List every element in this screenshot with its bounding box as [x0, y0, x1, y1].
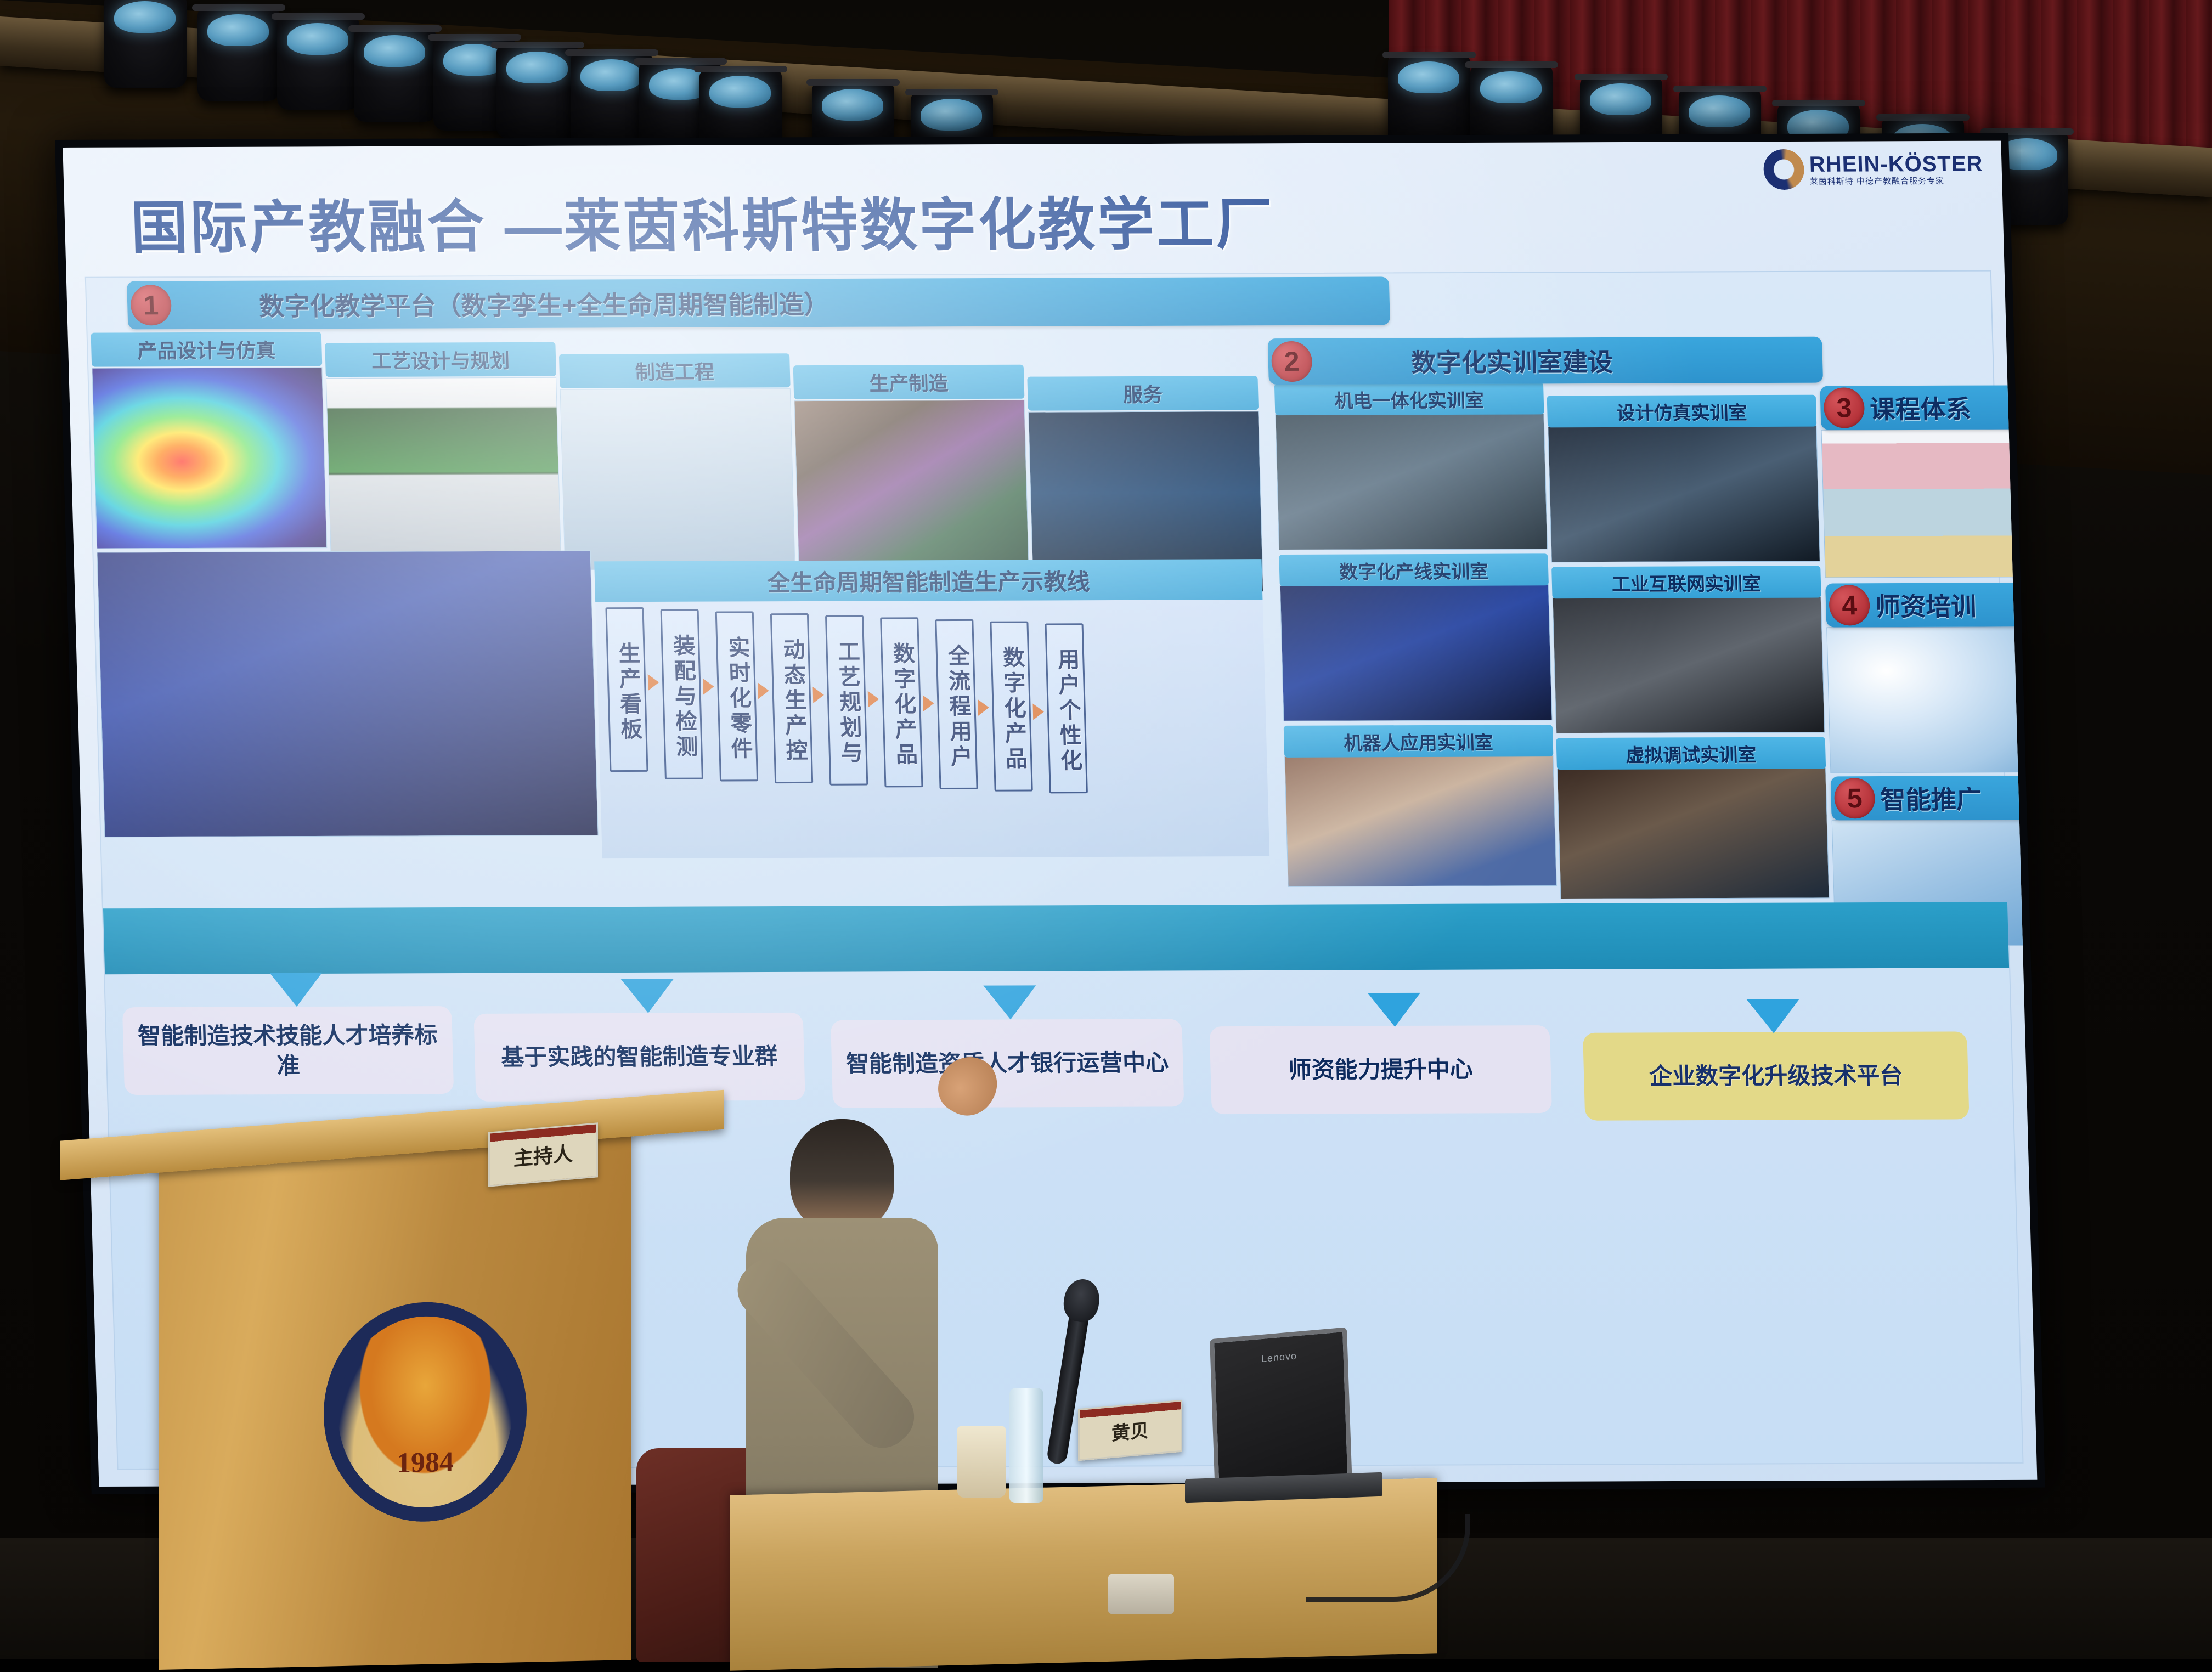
line-step-5: 工艺规划与 — [825, 615, 868, 786]
line-step-3: 实时化零件 — [715, 611, 758, 781]
tile-course-system — [1821, 429, 2033, 578]
production-line-title: 全生命周期智能制造生产示教线 — [594, 559, 1262, 602]
stage-light — [277, 16, 359, 110]
step-arrow-icon — [648, 674, 659, 691]
section-title-2: 数字化实训室建设 — [1410, 342, 1613, 379]
stage-caption-service: 服务 — [1027, 376, 1259, 410]
tile-lab-design-sim — [1548, 426, 1820, 563]
section-badge-5: 5 — [1834, 778, 1876, 818]
water-bottle — [1009, 1388, 1043, 1503]
stage-caption-product-design: 产品设计与仿真 — [91, 332, 323, 366]
lab-caption-mechatronics: 机电一体化实训室 — [1274, 382, 1544, 415]
logo-subtitle: 莱茵科斯特 中德产教融合服务专家 — [1810, 177, 1984, 185]
outcome-box-talent-standard: 智能制造技术技能人才培养标准 — [122, 1006, 454, 1095]
person-head — [790, 1119, 894, 1232]
stage-caption-production: 生产制造 — [793, 365, 1025, 399]
emblem-year: 1984 — [397, 1446, 454, 1479]
tile-lab-mechatronics — [1275, 413, 1548, 550]
section-header-1: 1 数字化教学平台（数字孪生+全生命周期智能制造） — [127, 276, 1390, 329]
lab-caption-industrial-iot: 工业互联网实训室 — [1551, 566, 1821, 599]
paper-cup — [957, 1426, 1006, 1498]
section-header-2: 2 数字化实训室建设 — [1268, 337, 1824, 385]
section-header-5: 5 智能推广 — [1831, 776, 2038, 820]
section-header-3: 3 课程体系 — [1820, 385, 2029, 430]
tile-process-planning — [326, 377, 561, 559]
tile-lab-robotics — [1284, 755, 1557, 887]
line-step-8: 数字化产品 — [990, 622, 1032, 792]
stage-light — [496, 45, 579, 138]
down-arrow-icon — [621, 979, 675, 1013]
tile-lab-virtual-commissioning — [1557, 767, 1830, 899]
floor-outlet — [1108, 1574, 1174, 1614]
tile-manufacturing-eng — [560, 388, 795, 570]
step-arrow-icon — [758, 682, 769, 699]
outcome-box-practice-majors: 基于实践的智能制造专业群 — [473, 1013, 805, 1102]
line-step-2: 装配与检测 — [661, 609, 703, 779]
tile-smart-warehouse — [97, 550, 598, 837]
step-arrow-icon — [1032, 703, 1044, 720]
down-arrow-icon — [983, 985, 1037, 1019]
line-step-4: 动态生产控 — [770, 613, 813, 783]
laptop[interactable]: Lenovo — [1210, 1327, 1352, 1498]
section-badge-4: 4 — [1829, 585, 1870, 625]
university-emblem: 1984 — [324, 1300, 527, 1524]
step-arrow-icon — [812, 687, 824, 703]
line-step-7: 全流程用户 — [935, 619, 978, 789]
tile-lab-digital-line — [1280, 584, 1553, 721]
line-step-9: 用户个性化 — [1045, 623, 1088, 793]
stage-light — [104, 0, 187, 88]
laptop-brand-label: Lenovo — [1261, 1350, 1297, 1365]
section-title-4: 师资培训 — [1875, 587, 1977, 624]
auditorium-stage: 国际产教融合 —莱茵科斯特数字化教学工厂 RHEIN-KÖSTER 莱茵科斯特 … — [0, 0, 2212, 1659]
step-arrow-icon — [978, 699, 989, 716]
rhein-koster-mark-icon — [1763, 149, 1804, 190]
stage-light — [354, 29, 436, 122]
section-title-3: 课程体系 — [1870, 389, 1972, 426]
divider-band — [103, 902, 2009, 974]
lab-caption-digital-line: 数字化产线实训室 — [1279, 553, 1549, 586]
stage-caption-process-planning: 工艺设计与规划 — [325, 342, 556, 377]
podium-nameplate: 主持人 — [488, 1122, 598, 1187]
step-arrow-icon — [868, 691, 879, 707]
section-badge-2: 2 — [1271, 341, 1313, 382]
stage-light — [198, 8, 280, 101]
step-arrow-icon — [703, 679, 714, 695]
rhein-koster-logo: RHEIN-KÖSTER 莱茵科斯特 中德产教融合服务专家 — [1763, 149, 1984, 190]
stage-light — [1388, 55, 1470, 148]
line-step-6: 数字化产品 — [880, 617, 923, 787]
line-step-1: 生产看板 — [605, 607, 648, 772]
section-badge-3: 3 — [1823, 387, 1865, 428]
down-arrow-icon — [1747, 999, 1801, 1033]
tile-product-design-sim — [92, 367, 327, 549]
desk-nameplate: 黄贝 — [1078, 1400, 1182, 1461]
step-arrow-icon — [923, 695, 934, 711]
section-title-1: 数字化教学平台（数字孪生+全生命周期智能制造） — [258, 285, 830, 323]
outcome-box-enterprise-platform: 企业数字化升级技术平台 — [1583, 1031, 1970, 1120]
lab-caption-design-sim: 设计仿真实训室 — [1547, 395, 1817, 428]
slide-title: 国际产教融合 —莱茵科斯特数字化教学工厂 — [129, 177, 1276, 264]
outcome-box-talent-bank: 智能制造资质人才银行运营中心 — [831, 1019, 1184, 1108]
section-badge-1: 1 — [130, 285, 172, 325]
lab-caption-virtual-commissioning: 虚拟调试实训室 — [1556, 737, 1826, 770]
down-arrow-icon — [269, 973, 323, 1007]
logo-wordmark: RHEIN-KÖSTER — [1809, 152, 1983, 175]
tile-lab-industrial-iot — [1553, 597, 1825, 734]
lectern-podium: 1984 — [159, 1133, 631, 1670]
tile-production — [794, 400, 1029, 581]
down-arrow-icon — [1368, 993, 1421, 1027]
stage-caption-manufacturing-eng: 制造工程 — [559, 353, 791, 388]
outcome-box-teacher-center: 师资能力提升中心 — [1209, 1025, 1551, 1114]
section-title-5: 智能推广 — [1880, 779, 1982, 816]
section-header-4: 4 师资培训 — [1825, 583, 2035, 627]
lab-caption-robotics: 机器人应用实训室 — [1284, 725, 1554, 758]
tile-teacher-training — [1826, 626, 2037, 773]
